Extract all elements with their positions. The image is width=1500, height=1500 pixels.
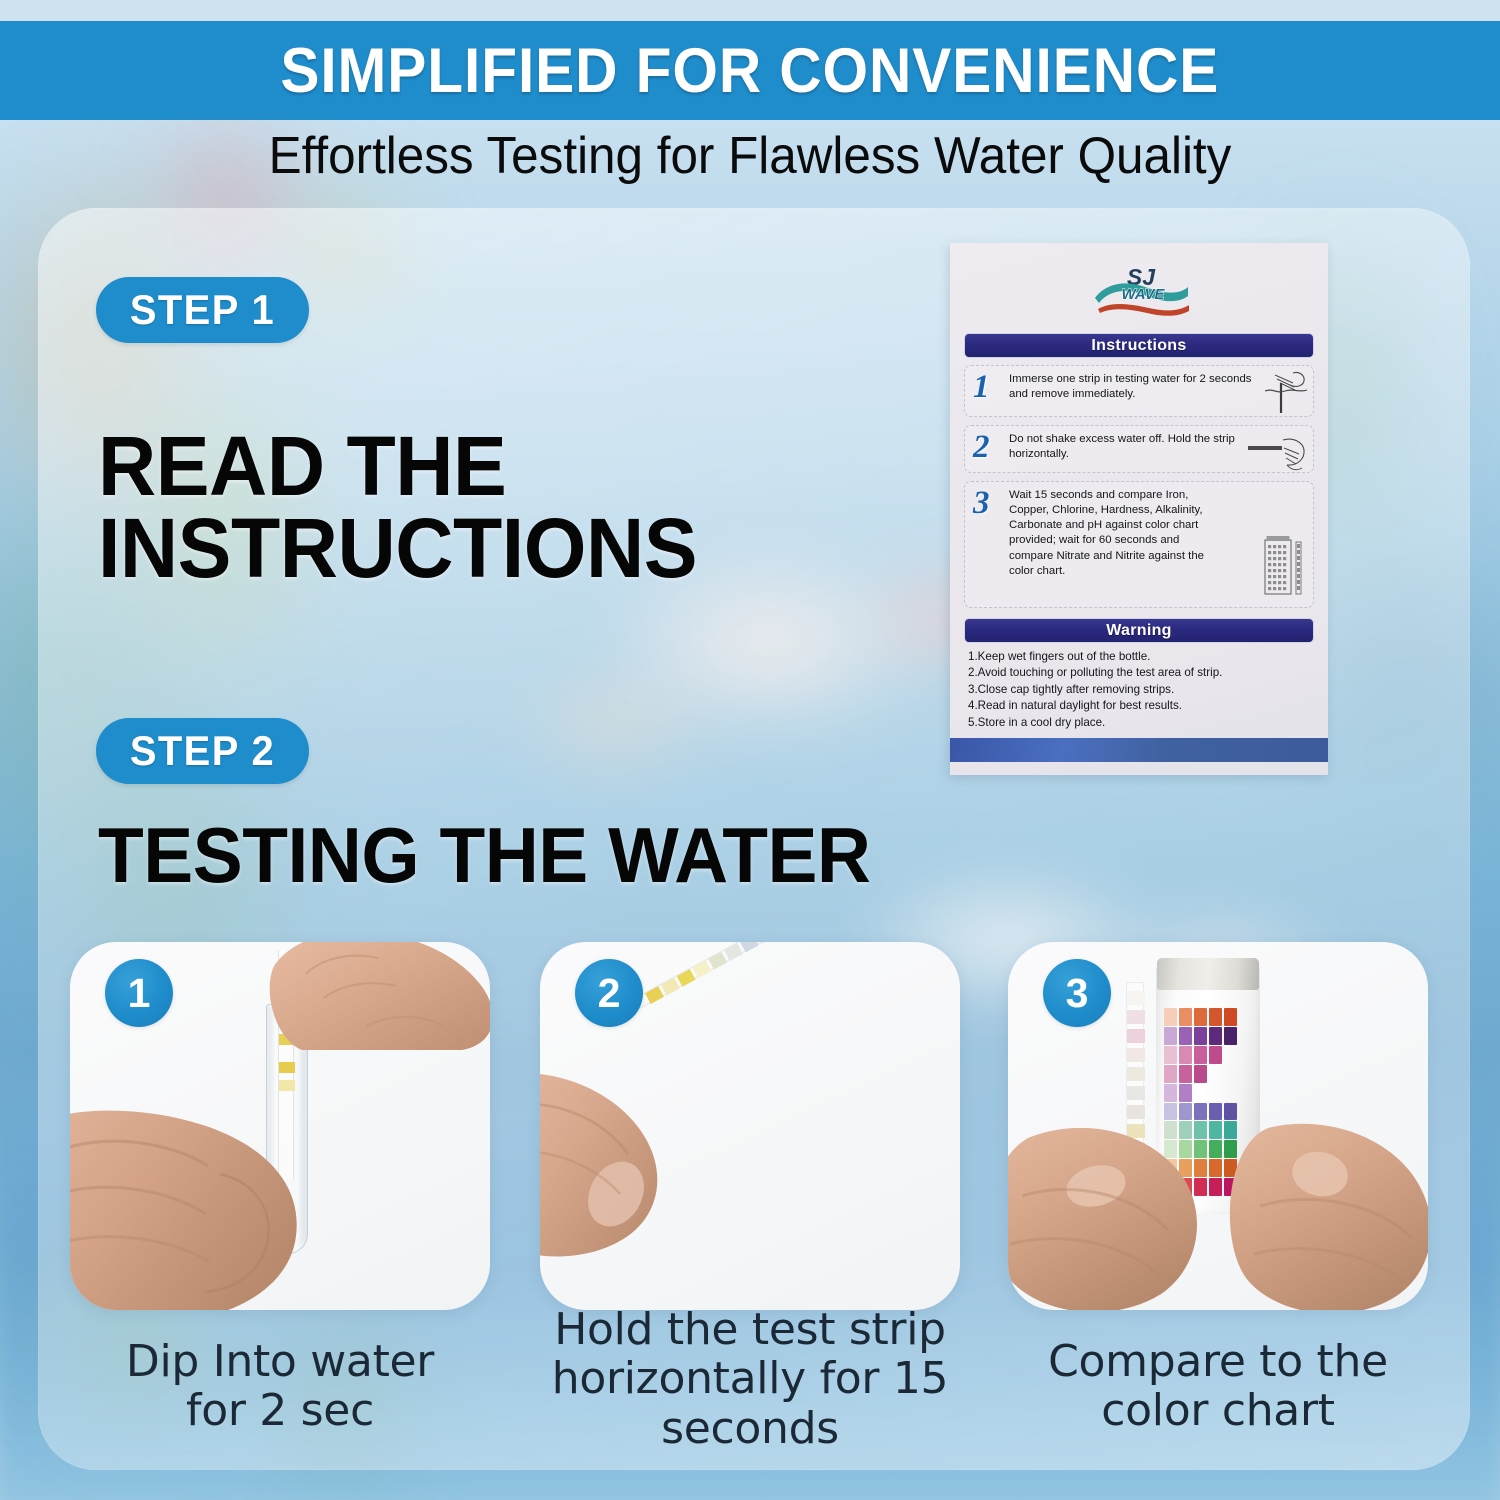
strip-pad xyxy=(724,943,743,961)
hand-holding-strip xyxy=(540,1070,688,1270)
photo-card-2-number-badge: 2 xyxy=(575,959,643,1027)
color-chart-swatch xyxy=(1224,1027,1237,1045)
caption-line: horizontally for 15 xyxy=(540,1354,960,1403)
color-chart-bottle-icon xyxy=(1263,534,1305,598)
color-chart-swatch xyxy=(1224,1084,1237,1102)
caption-line: Compare to the xyxy=(1008,1337,1428,1386)
color-chart-swatch xyxy=(1164,1008,1177,1026)
warning-banner: Warning xyxy=(964,618,1314,643)
warning-item: 5.Store in a cool dry place. xyxy=(968,715,1314,731)
color-chart-swatch xyxy=(1164,1027,1177,1045)
caption-line: Hold the test strip xyxy=(540,1305,960,1354)
color-chart-swatch xyxy=(1179,1027,1192,1045)
color-chart-swatch xyxy=(1224,1008,1237,1026)
color-chart-swatch xyxy=(1194,1103,1207,1121)
color-chart-swatch xyxy=(1239,1065,1252,1083)
color-chart-swatch xyxy=(1194,1065,1207,1083)
strip-pad xyxy=(1127,1029,1145,1043)
strip-pad xyxy=(279,1080,295,1091)
hand-fingers-top xyxy=(266,942,490,1052)
strip-pad xyxy=(1127,1067,1145,1081)
instruction-step-2-text: Do not shake excess water off. Hold the … xyxy=(1009,432,1259,462)
color-chart-row xyxy=(1164,1084,1252,1102)
svg-text:WAVE: WAVE xyxy=(1121,286,1165,303)
photo-card-1-caption: Dip Into waterfor 2 sec xyxy=(70,1337,490,1436)
photo-card-step-1: 1 xyxy=(70,942,490,1310)
test-strip-diagonal xyxy=(633,942,902,1009)
photo-card-3-caption: Compare to thecolor chart xyxy=(1008,1337,1428,1436)
strip-pad xyxy=(708,952,727,970)
color-chart-row xyxy=(1164,1103,1252,1121)
photo-card-3-number: 3 xyxy=(1066,973,1089,1014)
color-chart-swatch xyxy=(1209,1046,1222,1064)
photo-card-1-number-badge: 1 xyxy=(105,959,173,1027)
caption-line: for 2 sec xyxy=(70,1386,490,1435)
step-1-heading-line-2: INSTRUCTIONS xyxy=(98,507,697,589)
photo-card-3-number-badge: 3 xyxy=(1043,959,1111,1027)
color-chart-swatch xyxy=(1164,1084,1177,1102)
color-chart-swatch xyxy=(1224,1103,1237,1121)
step-2-badge-label: STEP 2 xyxy=(130,727,275,775)
color-chart-swatch xyxy=(1209,1008,1222,1026)
color-chart-swatch xyxy=(1179,1065,1192,1083)
hand-holding-strip-horizontal-icon xyxy=(1247,436,1309,472)
color-chart-row xyxy=(1164,1065,1252,1083)
color-chart-swatch xyxy=(1194,1027,1207,1045)
color-chart-swatch xyxy=(1209,1103,1222,1121)
strip-pad xyxy=(740,942,759,952)
page-title: SIMPLIFIED FOR CONVENIENCE xyxy=(281,35,1220,107)
strip-pad xyxy=(692,960,711,978)
header-band: SIMPLIFIED FOR CONVENIENCE xyxy=(0,21,1500,120)
color-chart-swatch xyxy=(1239,1084,1252,1102)
step-2-badge: STEP 2 xyxy=(96,718,309,784)
color-chart-swatch xyxy=(1224,1046,1237,1064)
color-chart-swatch xyxy=(1179,1103,1192,1121)
instruction-step-1-text: Immerse one strip in testing water for 2… xyxy=(1009,372,1259,402)
strip-pad xyxy=(1127,1086,1145,1100)
color-chart-swatch xyxy=(1224,1065,1237,1083)
photo-card-step-2: 2 xyxy=(540,942,960,1310)
hands-holding-bottle xyxy=(1008,1122,1428,1310)
strip-pad xyxy=(661,978,680,996)
color-chart-swatch xyxy=(1164,1103,1177,1121)
step-1-heading-line-1: READ THE xyxy=(98,425,697,507)
instruction-step-2: 2 Do not shake excess water off. Hold th… xyxy=(964,425,1314,473)
color-chart-swatch xyxy=(1164,1065,1177,1083)
step-1-badge-label: STEP 1 xyxy=(130,286,275,334)
warning-list: 1.Keep wet fingers out of the bottle. 2.… xyxy=(968,649,1314,731)
strip-pad xyxy=(1127,1010,1145,1024)
strip-pad xyxy=(1127,1048,1145,1062)
color-chart-swatch xyxy=(1179,1084,1192,1102)
photo-card-2-caption: Hold the test striphorizontally for 15se… xyxy=(540,1305,960,1453)
color-chart-swatch xyxy=(1209,1027,1222,1045)
photo-card-2-number: 2 xyxy=(598,973,621,1014)
instructions-banner: Instructions xyxy=(964,333,1314,358)
sj-wave-logo: SJ WAVE xyxy=(1091,261,1191,317)
warning-item: 2.Avoid touching or polluting the test a… xyxy=(968,665,1314,681)
step-1-heading: READ THE INSTRUCTIONS xyxy=(98,425,697,590)
hand-holding-tube xyxy=(70,1104,340,1310)
bottle-cap xyxy=(1157,958,1259,990)
instructions-banner-label: Instructions xyxy=(1091,337,1186,355)
instruction-step-1: 1 Immerse one strip in testing water for… xyxy=(964,365,1314,417)
strip-pad xyxy=(279,1062,295,1073)
step-2-heading: TESTING THE WATER xyxy=(98,817,871,893)
color-chart-swatch xyxy=(1194,1008,1207,1026)
color-chart-swatch xyxy=(1164,1046,1177,1064)
caption-line: color chart xyxy=(1008,1386,1428,1435)
color-chart-row xyxy=(1164,1008,1252,1026)
hand-dipping-strip-icon xyxy=(1263,369,1309,417)
warning-banner-label: Warning xyxy=(1106,622,1172,640)
color-chart-swatch xyxy=(1209,1084,1222,1102)
instruction-step-3-number: 3 xyxy=(973,487,990,520)
strip-pad xyxy=(756,942,775,944)
instruction-step-3: 3 Wait 15 seconds and compare Iron, Copp… xyxy=(964,481,1314,608)
page-subtitle: Effortless Testing for Flawless Water Qu… xyxy=(38,126,1463,186)
color-chart-swatch xyxy=(1194,1084,1207,1102)
color-chart-row xyxy=(1164,1027,1252,1045)
caption-line: Dip Into water xyxy=(70,1337,490,1386)
color-chart-swatch xyxy=(1209,1065,1222,1083)
photo-card-step-3: 3 xyxy=(1008,942,1428,1310)
step-1-badge: STEP 1 xyxy=(96,277,309,343)
caption-line: seconds xyxy=(540,1404,960,1453)
strip-pad xyxy=(645,986,664,1004)
warning-item: 4.Read in natural daylight for best resu… xyxy=(968,698,1314,714)
instruction-sheet-footer-band xyxy=(950,738,1328,762)
strip-pad xyxy=(1127,1105,1145,1119)
color-chart-swatch xyxy=(1179,1046,1192,1064)
instruction-step-1-number: 1 xyxy=(973,371,990,404)
warning-item: 3.Close cap tightly after removing strip… xyxy=(968,682,1314,698)
instruction-step-2-number: 2 xyxy=(973,431,990,464)
color-chart-swatch xyxy=(1194,1046,1207,1064)
strip-pad xyxy=(1127,991,1145,1005)
color-chart-row xyxy=(1164,1046,1252,1064)
instruction-step-3-text: Wait 15 seconds and compare Iron, Copper… xyxy=(1009,488,1221,579)
color-chart-swatch xyxy=(1179,1008,1192,1026)
warning-item: 1.Keep wet fingers out of the bottle. xyxy=(968,649,1314,665)
strip-pad xyxy=(677,969,696,987)
photo-card-1-number: 1 xyxy=(128,973,151,1014)
instruction-sheet-card: SJ WAVE Instructions 1 Immerse one strip… xyxy=(950,243,1328,775)
